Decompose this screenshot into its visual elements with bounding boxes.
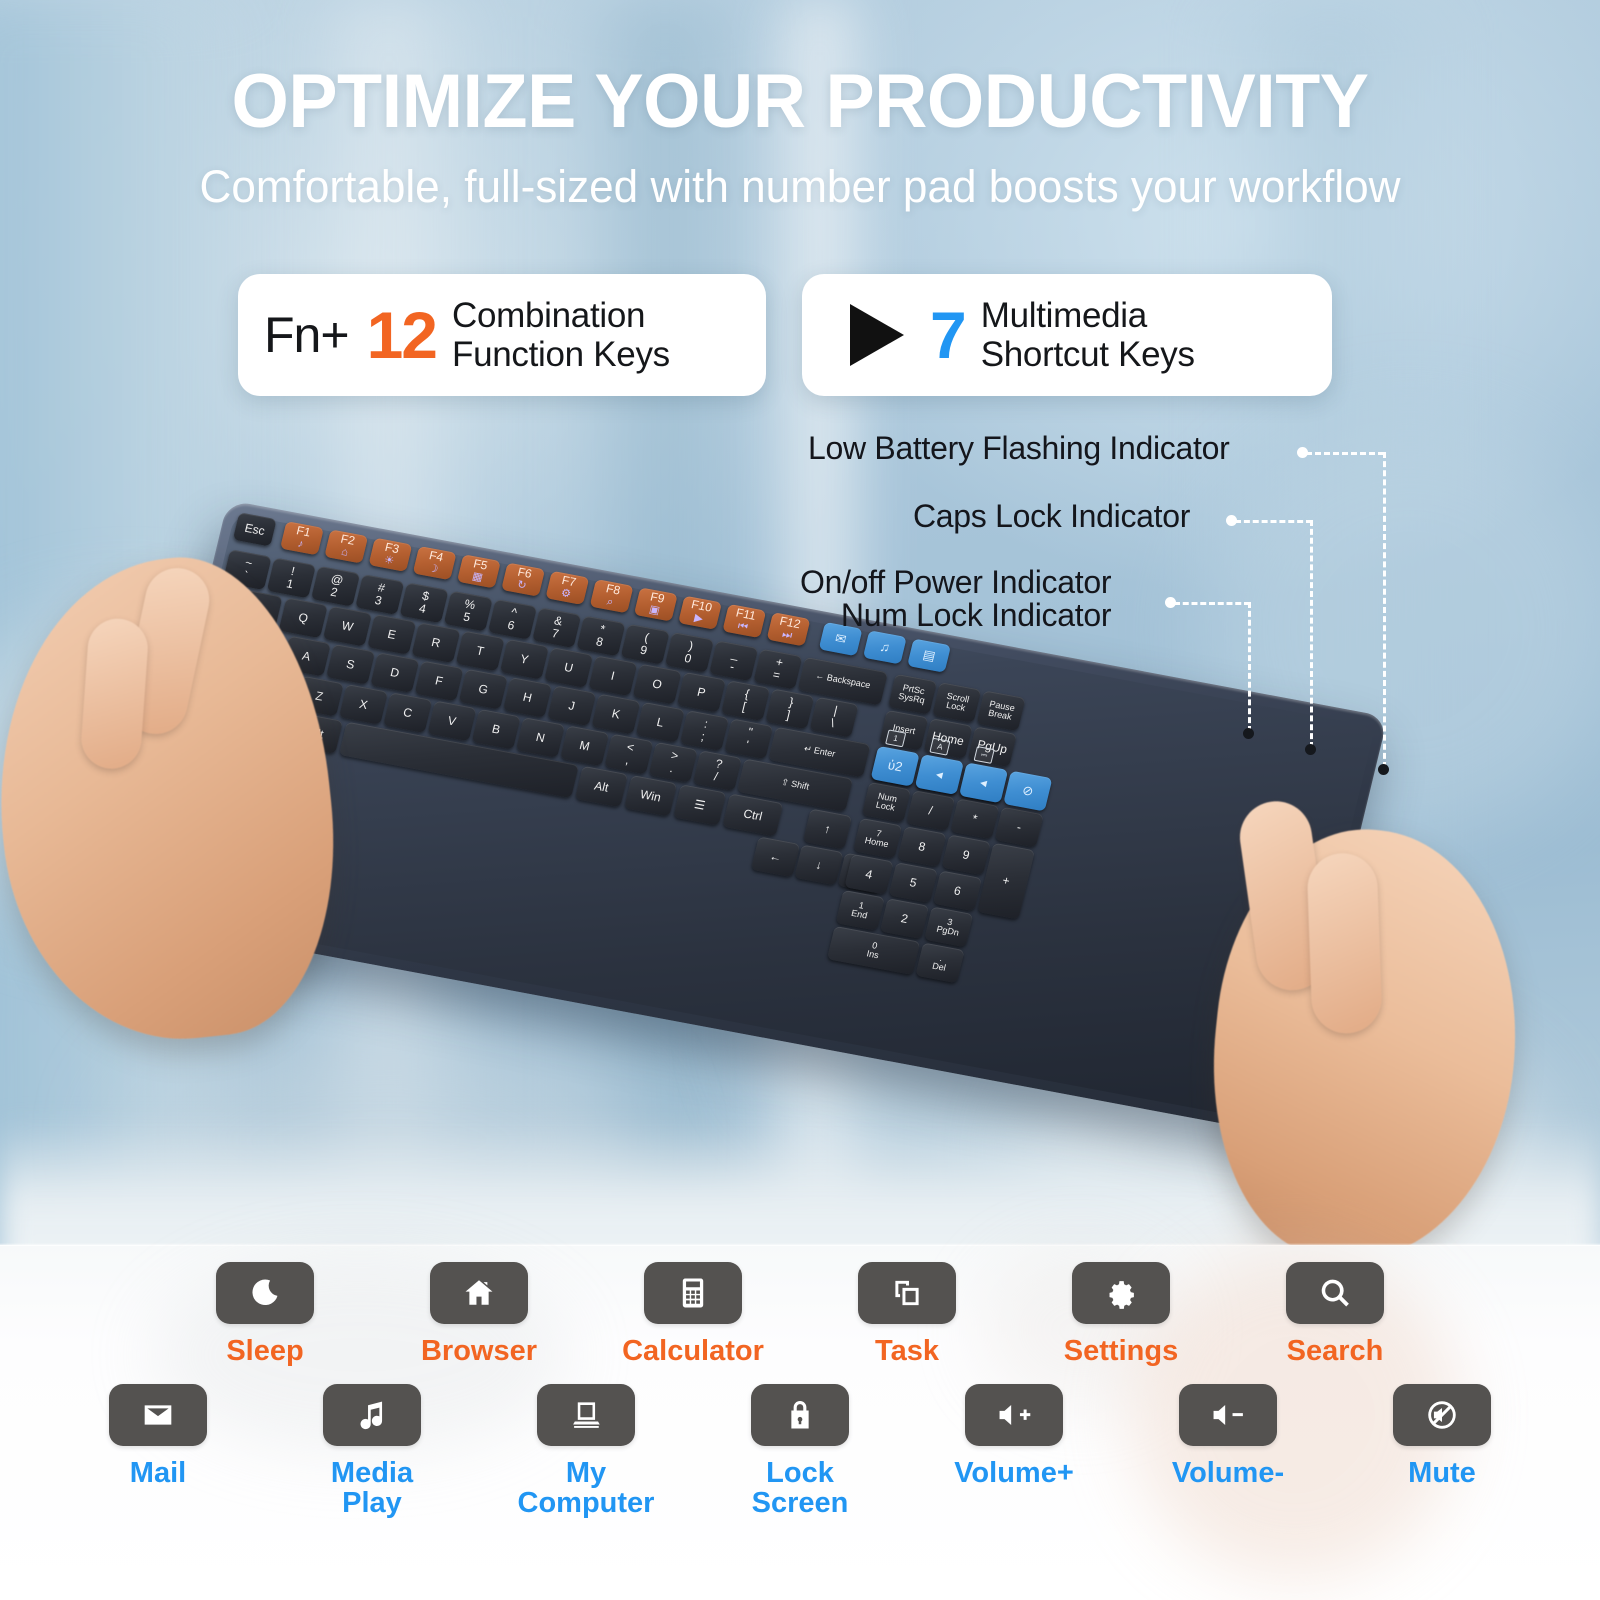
keyboard-key: !1 (267, 558, 316, 599)
infographic-canvas: OPTIMIZE YOUR PRODUCTIVITY Comfortable, … (0, 0, 1600, 1600)
play-icon (850, 304, 904, 366)
keyboard-key: * (950, 798, 999, 839)
page-subtitle: Comfortable, full-sized with number pad … (16, 162, 1584, 212)
shortcut-label: Calculator (622, 1336, 764, 1366)
shortcut-item: MediaPlay (265, 1384, 479, 1518)
keyboard-key: ↑ (803, 808, 852, 849)
keyboard-key: E (367, 614, 416, 655)
keyboard-key: F7⚙ (545, 571, 589, 605)
keyboard-key: @2 (311, 566, 360, 607)
shortcut-label: MediaPlay (331, 1458, 413, 1518)
keyboard-key: Alt (575, 766, 628, 808)
keyboard-key: NumLock (862, 782, 911, 823)
keyboard-key: _- (709, 640, 758, 681)
keyboard-key: |\ (809, 697, 858, 738)
keyboard-key: 4 (844, 854, 893, 895)
keyboard-key: Home (923, 718, 972, 759)
shortcut-row-primary: SleepBrowserCalculatorTaskSettingsSearch (0, 1262, 1600, 1366)
keyboard-key: #3 (355, 574, 404, 615)
keyboard-key: >. (648, 742, 697, 783)
multimedia-description: Multimedia Shortcut Keys (981, 296, 1195, 374)
shortcut-label: Volume- (1172, 1458, 1284, 1488)
volume-up-icon (965, 1384, 1063, 1446)
keyboard-key: %5 (444, 591, 493, 632)
keyboard-key: Ctrl (722, 793, 783, 836)
volume-down-icon (1179, 1384, 1277, 1446)
shortcut-label: MyComputer (518, 1458, 655, 1518)
keyboard-key: <, (604, 734, 653, 775)
keyboard-key: += (753, 649, 802, 690)
keyboard-key: F4☽ (413, 546, 457, 580)
keyboard-key: Insert (879, 710, 928, 751)
shortcut-label: Settings (1064, 1336, 1178, 1366)
gear-icon (1072, 1262, 1170, 1324)
callout-power-line1: On/off Power Indicator (800, 564, 1111, 600)
leader-endpoint-caps (1305, 744, 1316, 755)
mute-icon (1393, 1384, 1491, 1446)
keyboard-key: }] (765, 689, 814, 730)
shortcut-label: LockScreen (752, 1458, 849, 1518)
keyboard-key: 1End (836, 890, 885, 931)
keyboard-key: ↓ (794, 845, 843, 886)
keyboard-key: O (632, 664, 681, 705)
shortcut-item: Mail (51, 1384, 265, 1488)
keyboard-key: Win (624, 775, 677, 817)
computer-icon (537, 1384, 635, 1446)
keyboard-key: ◂ (959, 762, 1008, 803)
keyboard-key: "' (724, 718, 773, 759)
moon-icon (216, 1262, 314, 1324)
lock-icon (751, 1384, 849, 1446)
fn-prefix-label: Fn+ (264, 306, 349, 364)
shortcut-label: Volume+ (954, 1458, 1074, 1488)
page-title: OPTIMIZE YOUR PRODUCTIVITY (24, 64, 1576, 140)
keyboard-key: 2 (880, 898, 929, 939)
shortcut-label: Search (1287, 1336, 1384, 1366)
keyboard-key: M (560, 725, 609, 766)
keyboard-key: C (383, 692, 432, 733)
leader-h-caps (1235, 520, 1312, 523)
keyboard-key: ♫ (863, 630, 907, 664)
keyboard-key: R (411, 622, 460, 663)
leader-v-power (1248, 602, 1251, 732)
keyboard-key: 3PgDn (924, 906, 973, 947)
keyboard-key: - (994, 807, 1043, 848)
keyboard-key: ◂ (915, 754, 964, 795)
keyboard-key: P (677, 672, 726, 713)
keyboard-key: {[ (721, 680, 770, 721)
keyboard-key: F6↻ (501, 563, 545, 597)
leader-v-battery (1383, 452, 1386, 768)
keyboard-key: *8 (576, 616, 625, 657)
keyboard-key: ⊘ (1003, 771, 1052, 812)
keyboard-key: ← (751, 836, 800, 877)
keyboard-key: I (588, 655, 637, 696)
battery-led: ⎓ (974, 746, 995, 764)
keyboard-key: ▤ (907, 638, 951, 672)
keyboard-key: Y (500, 639, 549, 680)
keyboard-key: PrtScSysRq (888, 674, 937, 715)
keyboard-key: Esc (233, 512, 277, 546)
leader-endpoint-battery (1378, 764, 1389, 775)
shortcut-grid: SleepBrowserCalculatorTaskSettingsSearch… (0, 1262, 1600, 1518)
keyboard-key: $4 (399, 582, 448, 623)
shortcut-label: Sleep (226, 1336, 303, 1366)
keyboard-key: B (472, 709, 521, 750)
shortcut-label: Mute (1408, 1458, 1476, 1488)
keyboard-key: W (323, 606, 372, 647)
shortcut-item: Mute (1335, 1384, 1549, 1488)
keyboard-key: X (339, 684, 388, 725)
keyboard-key: K (591, 694, 640, 735)
keyboard-key: PauseBreak (976, 690, 1025, 731)
callout-low-battery: Low Battery Flashing Indicator (808, 432, 1229, 465)
keyboard-key: N (516, 717, 565, 758)
keyboard-key: ScrollLock (932, 682, 981, 723)
keyboard-key: ☰ (673, 784, 726, 826)
shortcut-item: Browser (372, 1262, 586, 1366)
music-icon (323, 1384, 421, 1446)
keyboard-key: / (906, 790, 955, 831)
keyboard-key: U (544, 647, 593, 688)
shortcut-item: Sleep (158, 1262, 372, 1366)
shortcut-item: Calculator (586, 1262, 800, 1366)
calculator-icon (644, 1262, 742, 1324)
badge-multimedia-keys: 7 Multimedia Shortcut Keys (802, 274, 1332, 396)
keyboard-key: L (636, 702, 685, 743)
shortcut-item: Volume+ (907, 1384, 1121, 1488)
shortcut-label: Browser (421, 1336, 537, 1366)
shortcut-label: Task (875, 1336, 939, 1366)
keyboard-key: 5 (889, 862, 938, 903)
keyboard-key: 6 (933, 870, 982, 911)
keyboard-key: F1♪ (280, 521, 324, 555)
multimedia-count: 7 (930, 302, 965, 368)
fn-description-line1: Combination (452, 296, 645, 335)
home-icon (430, 1262, 528, 1324)
badge-function-keys: Fn+ 12 Combination Function Keys (238, 274, 766, 396)
leader-h-battery (1306, 452, 1384, 455)
keyboard-key: Q (279, 597, 328, 638)
fn-description-line2: Function Keys (452, 335, 670, 374)
keyboard-key: S (326, 644, 375, 685)
keyboard-key: )0 (665, 632, 714, 673)
keyboard-key: G (459, 669, 508, 710)
keyboard-key: T (456, 631, 505, 672)
keyboard-key: D (370, 652, 419, 693)
keyboard-key: F10▶ (678, 596, 722, 630)
callout-power-numlock: On/off Power Indicator Num Lock Indicato… (800, 566, 1111, 631)
shortcut-row-media: MailMediaPlayMyComputerLockScreenVolume+… (0, 1384, 1600, 1518)
keyboard-key: J (547, 685, 596, 726)
search-icon (1286, 1262, 1384, 1324)
num-lock-led: 1 (885, 729, 906, 747)
shortcut-item: Task (800, 1262, 1014, 1366)
shortcut-item: Volume- (1121, 1384, 1335, 1488)
keyboard-key: &7 (532, 607, 581, 648)
keyboard-key: H (503, 677, 552, 718)
keyboard-key: 9 (942, 834, 991, 875)
callout-power-line2: Num Lock Indicator (800, 599, 1111, 632)
keyboard-key: F (414, 660, 463, 701)
mail-icon (109, 1384, 207, 1446)
windows-icon (858, 1262, 956, 1324)
leader-v-caps (1310, 520, 1313, 748)
shortcut-item: MyComputer (479, 1384, 693, 1518)
keyboard-key: F9▣ (634, 587, 678, 621)
keyboard-key: :; (680, 710, 729, 751)
keyboard-key: V (427, 701, 476, 742)
keyboard-key: .Del (915, 942, 964, 983)
keyboard-key: PgUp (968, 726, 1017, 767)
keyboard-key: (9 (621, 624, 670, 665)
multimedia-description-line2: Shortcut Keys (981, 335, 1195, 374)
keyboard-key: F3☀ (368, 538, 412, 572)
keyboard-key: 8 (897, 826, 946, 867)
shortcut-item: LockScreen (693, 1384, 907, 1518)
leader-endpoint-power (1243, 728, 1254, 739)
fn-description: Combination Function Keys (452, 296, 670, 374)
shortcut-item: Search (1228, 1262, 1442, 1366)
fn-count: 12 (367, 302, 436, 368)
keyboard-key: ὑ2 (870, 746, 919, 787)
keyboard-key: ?/ (693, 750, 742, 791)
shortcut-label: Mail (130, 1458, 186, 1488)
keyboard-key: F5▦ (457, 554, 501, 588)
keyboard-key: ^6 (488, 599, 537, 640)
caps-lock-led: A (929, 738, 950, 756)
keyboard-key: 7Home (853, 818, 902, 859)
keyboard-key: F8⌕ (590, 579, 634, 613)
callout-caps-lock: Caps Lock Indicator (913, 500, 1190, 533)
keyboard-key: F2⌂ (324, 529, 368, 563)
multimedia-description-line1: Multimedia (981, 296, 1147, 335)
keyboard-key: F11⏮ (722, 604, 766, 638)
leader-h-power (1174, 602, 1250, 605)
shortcut-item: Settings (1014, 1262, 1228, 1366)
